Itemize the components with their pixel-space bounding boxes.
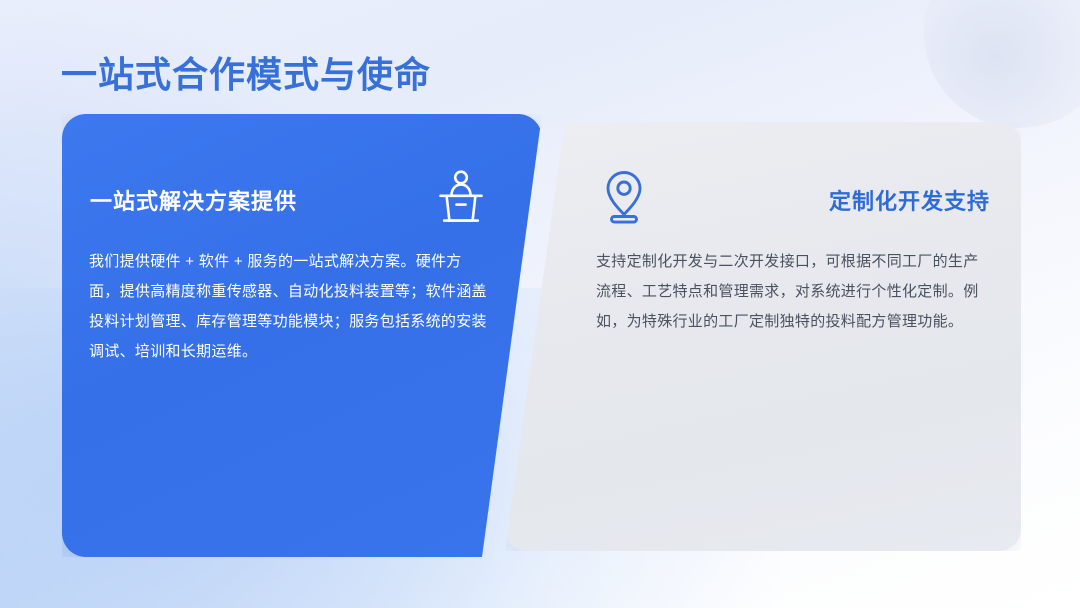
slide-canvas: 一站式合作模式与使命 一站式解决方案提供 我们提供硬件 + 软件 + 服务的一站… [0,0,1080,608]
podium-speaker-icon [432,168,490,231]
card-one-stop-solution-header: 一站式解决方案提供 [90,168,490,231]
card-custom-development-support-body: 支持定制化开发与二次开发接口，可根据不同工厂的生产流程、工艺特点和管理需求，对系… [596,247,992,337]
background-blob-top-right [924,0,1080,128]
card-custom-development-support-header: 定制化开发支持 [598,168,990,231]
card-one-stop-solution-heading: 一站式解决方案提供 [90,184,297,216]
page-title: 一站式合作模式与使命 [61,46,431,98]
card-one-stop-solution-body: 我们提供硬件 + 软件 + 服务的一站式解决方案。硬件方面，提供高精度称重传感器… [89,247,489,367]
card-custom-development-support-heading: 定制化开发支持 [829,184,990,216]
location-pin-icon [598,168,650,231]
